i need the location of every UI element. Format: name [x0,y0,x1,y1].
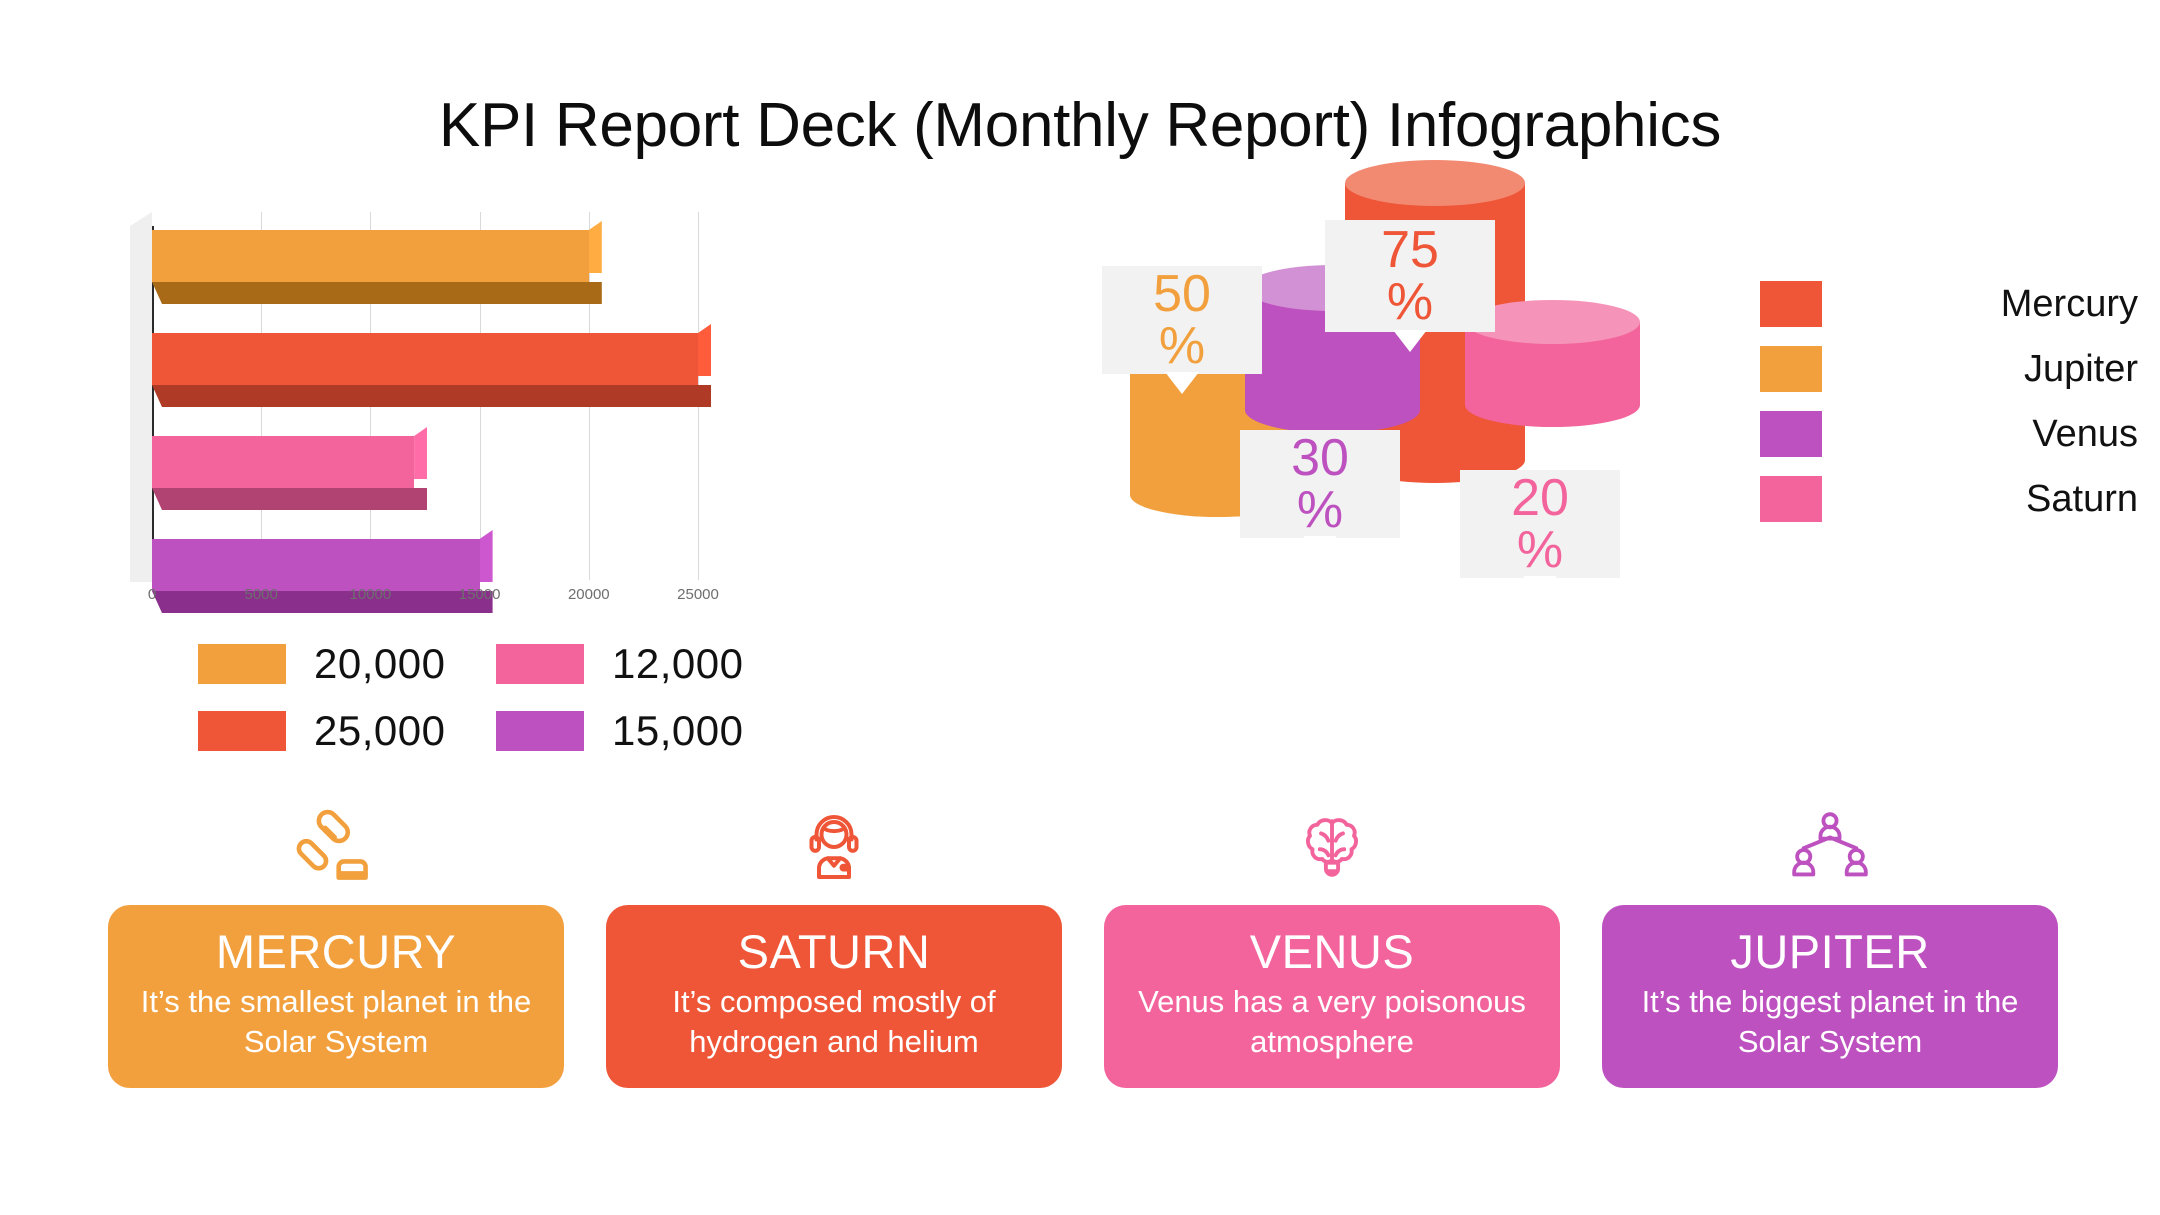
bar-chart-3d: 0500010000150002000025000 [130,212,830,612]
card-description: It’s the biggest planet in the Solar Sys… [1620,982,2040,1061]
bar-venus[interactable] [152,539,480,591]
cylinder-value: 20 [1511,472,1569,524]
legend-item-jupiter[interactable]: 20,000 [198,640,496,688]
bar-saturn[interactable] [152,436,414,488]
legend-item-saturn[interactable]: 12,000 [496,640,794,688]
card-title: VENUS [1122,927,1542,976]
x-tick-label: 15000 [459,586,501,603]
gavel-icon [108,795,564,887]
cylinder-unit: % [1297,484,1343,536]
cylinder-unit: % [1387,276,1433,328]
legend-label-venus: 15,000 [612,707,743,755]
org-chart-icon [1602,795,2058,887]
card-venus[interactable]: VENUS Venus has a very poisonous atmosph… [1104,795,1560,1088]
bar-jupiter[interactable] [152,230,589,282]
card-title: SATURN [624,927,1044,976]
bar-bottom [152,488,427,510]
legend-item-jupiter[interactable]: Jupiter [1760,341,2140,396]
legend-swatch-mercury [1760,281,1822,327]
bar-bottom [152,282,602,304]
x-tick-label: 25000 [677,586,719,603]
legend-swatch-mercury [198,711,286,751]
cylinder-label-venus: 30% [1240,430,1400,538]
legend-row: 20,000 12,000 [198,640,798,688]
x-tick-label: 20000 [568,586,610,603]
legend-label-saturn: 12,000 [612,640,743,688]
cylinder-top-ellipse [1345,160,1525,206]
bar-bottom [152,385,711,407]
cylinder-unit: % [1159,320,1205,372]
bar-side [414,427,427,479]
cylinder-label-pointer-venus [1303,536,1337,558]
legend-item-mercury[interactable]: Mercury [1760,276,2140,331]
card-title: MERCURY [126,927,546,976]
card-body-mercury: MERCURY It’s the smallest planet in the … [108,905,564,1088]
card-saturn[interactable]: SATURN It’s composed mostly of hydrogen … [606,795,1062,1088]
legend-swatch-saturn [1760,476,1822,522]
legend-item-venus[interactable]: Venus [1760,406,2140,461]
card-description: It’s composed mostly of hydrogen and hel… [624,982,1044,1061]
cylinder-label-pointer-saturn [1523,576,1557,598]
legend-row: 25,000 15,000 [198,707,798,755]
brain-icon [1104,795,1560,887]
bar-value-legend: 20,000 12,000 25,000 15,000 [198,640,798,774]
bar-side [698,324,711,376]
card-body-saturn: SATURN It’s composed mostly of hydrogen … [606,905,1062,1088]
card-body-venus: VENUS Venus has a very poisonous atmosph… [1104,905,1560,1088]
legend-label-venus: Venus [1822,415,2140,453]
infographic-slide: KPI Report Deck (Monthly Report) Infogra… [0,0,2160,1215]
x-tick-label: 5000 [245,586,278,603]
legend-swatch-venus [1760,411,1822,457]
cylinder-label-mercury: 75% [1325,220,1495,332]
bar-bottom [152,591,493,613]
legend-swatch-jupiter [198,644,286,684]
bar-side [480,530,493,582]
cylinder-value: 75 [1381,224,1439,276]
legend-swatch-saturn [496,644,584,684]
legend-label-jupiter: 20,000 [314,640,445,688]
bar-mercury[interactable] [152,333,698,385]
card-body-jupiter: JUPITER It’s the biggest planet in the S… [1602,905,2058,1088]
bar-face [152,436,414,488]
planet-legend: Mercury Jupiter Venus Saturn [1760,276,2140,536]
legend-label-saturn: Saturn [1822,480,2140,518]
bar-face [152,333,698,385]
legend-item-mercury[interactable]: 25,000 [198,707,496,755]
bar-side [589,221,602,273]
card-jupiter[interactable]: JUPITER It’s the biggest planet in the S… [1602,795,2058,1088]
legend-item-saturn[interactable]: Saturn [1760,471,2140,526]
legend-item-venus[interactable]: 15,000 [496,707,794,755]
cylinder-label-jupiter: 50% [1102,266,1262,374]
legend-swatch-jupiter [1760,346,1822,392]
legend-swatch-venus [496,711,584,751]
chart-back-wall [130,212,152,582]
planet-cards: MERCURY It’s the smallest planet in the … [108,795,2058,1115]
cylinder-chart-3d: 50%75%30%20% [1120,230,1720,760]
legend-label-jupiter: Jupiter [1822,350,2140,388]
card-mercury[interactable]: MERCURY It’s the smallest planet in the … [108,795,564,1088]
legend-label-mercury: Mercury [1822,285,2140,323]
x-tick-label: 10000 [350,586,392,603]
cylinder-value: 30 [1291,432,1349,484]
legend-label-mercury: 25,000 [314,707,445,755]
bar-face [152,539,480,591]
support-agent-icon [606,795,1062,887]
card-description: It’s the smallest planet in the Solar Sy… [126,982,546,1061]
page-title: KPI Report Deck (Monthly Report) Infogra… [0,92,2160,160]
card-title: JUPITER [1620,927,2040,976]
x-tick-label: 0 [148,586,156,603]
cylinder-unit: % [1517,524,1563,576]
card-description: Venus has a very poisonous atmosphere [1122,982,1542,1061]
cylinder-label-saturn: 20% [1460,470,1620,578]
cylinder-value: 50 [1153,268,1211,320]
bar-face [152,230,589,282]
